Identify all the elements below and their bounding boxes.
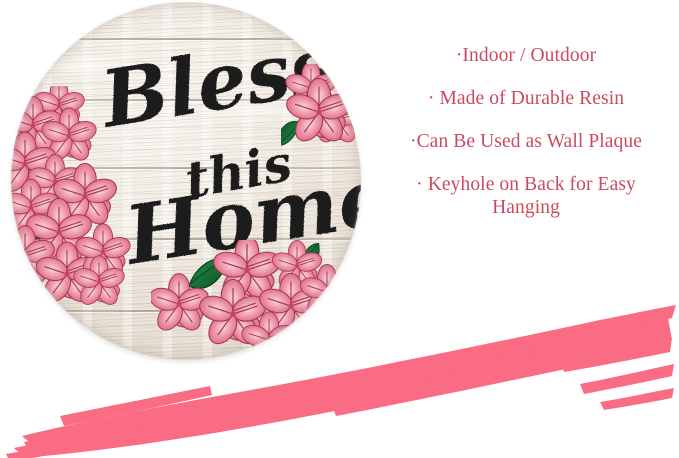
- feature-item-durable-resin: · Made of Durable Resin: [382, 87, 670, 110]
- round-wood-plaque: Bless this Home: [11, 2, 361, 360]
- feature-item-indoor-outdoor: ·Indoor / Outdoor: [382, 44, 670, 67]
- flower-cluster-bottom: [151, 240, 361, 360]
- flower-cluster-top-right: [281, 64, 361, 154]
- product-image-stage: Bless this Home: [0, 0, 679, 458]
- feature-item-keyhole-hanging: · Keyhole on Back for Easy Hanging: [382, 173, 670, 219]
- sign-word-this: this: [181, 133, 296, 210]
- flower-cluster-left: [11, 86, 147, 306]
- feature-list: ·Indoor / Outdoor · Made of Durable Resi…: [382, 44, 670, 219]
- feature-item-wall-plaque: ·Can Be Used as Wall Plaque: [382, 130, 670, 153]
